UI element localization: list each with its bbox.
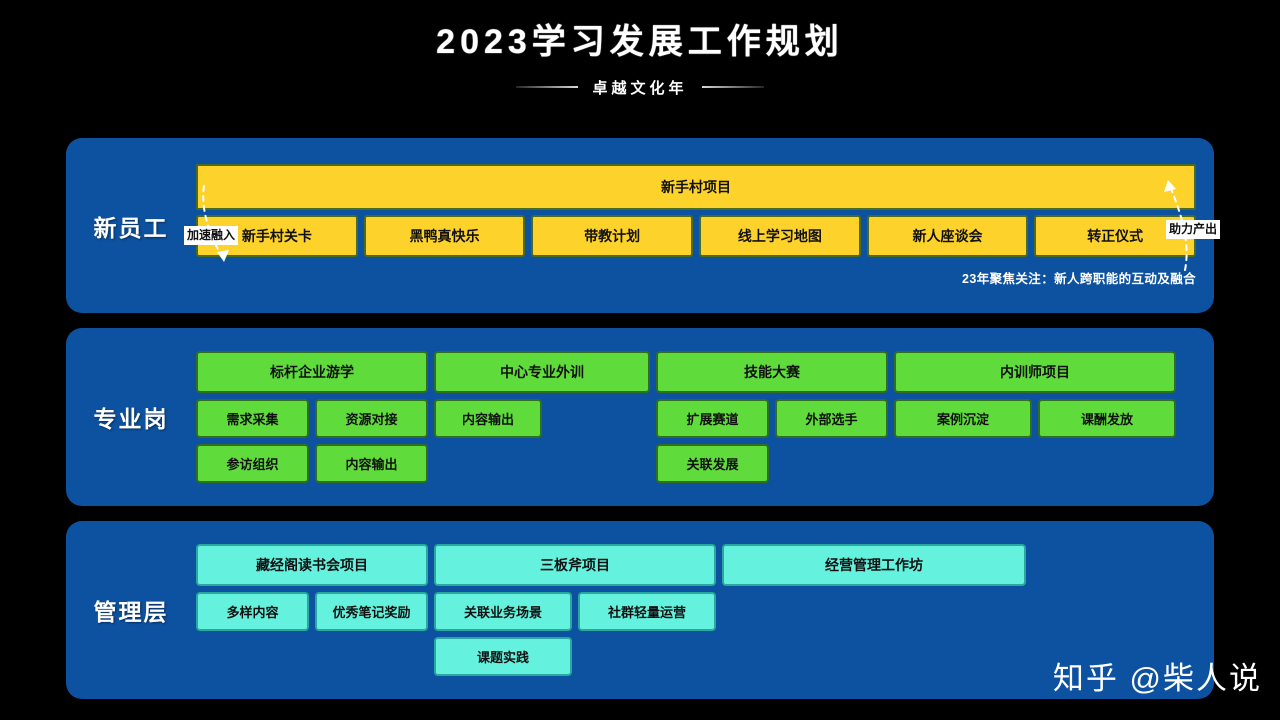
group-head[interactable]: 经营管理工作坊 — [722, 544, 1026, 586]
group-skills-competition: 技能大赛 扩展赛道 外部选手 关联发展 — [656, 351, 888, 483]
panel-management: 管理层 藏经阁读书会项目 多样内容 优秀笔记奖励 三板斧项目 关联业务场景 社群… — [66, 521, 1214, 699]
professional-groups: 标杆企业游学 需求采集 资源对接 参访组织 内容输出 中心专业外训 内容输出 — [196, 351, 1196, 483]
tag-boost-output: 助力产出 — [1166, 220, 1220, 239]
group-head[interactable]: 中心专业外训 — [434, 351, 650, 393]
row-label-management: 管理层 — [66, 593, 196, 627]
newcomer-item[interactable]: 新人座谈会 — [867, 215, 1029, 257]
group-management-workshop: 经营管理工作坊 — [722, 544, 1026, 586]
professional-content: 标杆企业游学 需求采集 资源对接 参访组织 内容输出 中心专业外训 内容输出 — [196, 351, 1214, 483]
group-three-axes-program: 三板斧项目 关联业务场景 社群轻量运营 课题实践 — [434, 544, 716, 676]
group-head[interactable]: 技能大赛 — [656, 351, 888, 393]
sub-item[interactable]: 参访组织 — [196, 444, 309, 483]
sub-item[interactable]: 内容输出 — [315, 444, 428, 483]
group-sub-row: 多样内容 优秀笔记奖励 — [196, 592, 428, 631]
group-sub-row: 关联业务场景 社群轻量运营 — [434, 592, 716, 631]
sub-item[interactable]: 课酬发放 — [1038, 399, 1176, 438]
sub-item[interactable]: 内容输出 — [434, 399, 542, 438]
sub-item[interactable]: 优秀笔记奖励 — [315, 592, 428, 631]
group-sub-row: 关联发展 — [656, 444, 888, 483]
page-header: 2023学习发展工作规划 卓越文化年 — [0, 0, 1280, 98]
subtitle-rule-left — [516, 86, 578, 88]
row-label-professional: 专业岗 — [66, 400, 196, 434]
sub-item[interactable]: 社群轻量运营 — [578, 592, 716, 631]
subtitle-group: 卓越文化年 — [0, 77, 1280, 98]
sub-item[interactable]: 外部选手 — [775, 399, 888, 438]
group-sub-row: 内容输出 — [434, 399, 650, 438]
group-reading-club-program: 藏经阁读书会项目 多样内容 优秀笔记奖励 — [196, 544, 428, 631]
row-label-newcomer: 新员工 — [66, 209, 196, 243]
watermark: 知乎 @柴人说 — [1053, 653, 1262, 698]
management-groups: 藏经阁读书会项目 多样内容 优秀笔记奖励 三板斧项目 关联业务场景 社群轻量运营… — [196, 544, 1196, 676]
group-internal-trainer-program: 内训师项目 案例沉淀 课酬发放 — [894, 351, 1176, 438]
panel-professional: 专业岗 标杆企业游学 需求采集 资源对接 参访组织 内容输出 中心专业外训 — [66, 328, 1214, 506]
sub-item[interactable]: 资源对接 — [315, 399, 428, 438]
sub-item[interactable]: 需求采集 — [196, 399, 309, 438]
group-benchmark-study-tour: 标杆企业游学 需求采集 资源对接 参访组织 内容输出 — [196, 351, 428, 483]
panels-container: 新员工 加速融入 助力产出 新手村项目 新手村关卡 黑鸭真快乐 带教计划 线上学… — [66, 138, 1214, 699]
group-sub-row: 扩展赛道 外部选手 — [656, 399, 888, 438]
group-sub-row: 参访组织 内容输出 — [196, 444, 428, 483]
page-subtitle: 卓越文化年 — [592, 77, 687, 98]
sub-item[interactable]: 课题实践 — [434, 637, 572, 676]
sub-item[interactable]: 关联业务场景 — [434, 592, 572, 631]
sub-item[interactable]: 关联发展 — [656, 444, 769, 483]
group-sub-row: 课题实践 — [434, 637, 716, 676]
sub-item[interactable]: 扩展赛道 — [656, 399, 769, 438]
newcomer-items-row: 新手村关卡 黑鸭真快乐 带教计划 线上学习地图 新人座谈会 转正仪式 — [196, 215, 1196, 257]
group-sub-row: 案例沉淀 课酬发放 — [894, 399, 1176, 438]
group-center-professional-training: 中心专业外训 内容输出 — [434, 351, 650, 438]
group-head[interactable]: 标杆企业游学 — [196, 351, 428, 393]
sub-item[interactable]: 多样内容 — [196, 592, 309, 631]
newcomer-item[interactable]: 黑鸭真快乐 — [364, 215, 526, 257]
newcomer-focus-note: 23年聚焦关注：新人跨职能的互动及融合 — [196, 268, 1196, 287]
group-sub-row: 需求采集 资源对接 — [196, 399, 428, 438]
newcomer-content: 新手村项目 新手村关卡 黑鸭真快乐 带教计划 线上学习地图 新人座谈会 转正仪式… — [196, 164, 1214, 287]
group-head[interactable]: 三板斧项目 — [434, 544, 716, 586]
newcomer-program-banner[interactable]: 新手村项目 — [196, 164, 1196, 210]
group-head[interactable]: 内训师项目 — [894, 351, 1176, 393]
newcomer-item[interactable]: 线上学习地图 — [699, 215, 861, 257]
panel-newcomer: 新员工 加速融入 助力产出 新手村项目 新手村关卡 黑鸭真快乐 带教计划 线上学… — [66, 138, 1214, 313]
page-title: 2023学习发展工作规划 — [0, 22, 1280, 63]
group-head[interactable]: 藏经阁读书会项目 — [196, 544, 428, 586]
subtitle-rule-right — [702, 86, 764, 88]
newcomer-item[interactable]: 带教计划 — [531, 215, 693, 257]
sub-item[interactable]: 案例沉淀 — [894, 399, 1032, 438]
tag-accelerate-integration: 加速融入 — [184, 226, 238, 245]
